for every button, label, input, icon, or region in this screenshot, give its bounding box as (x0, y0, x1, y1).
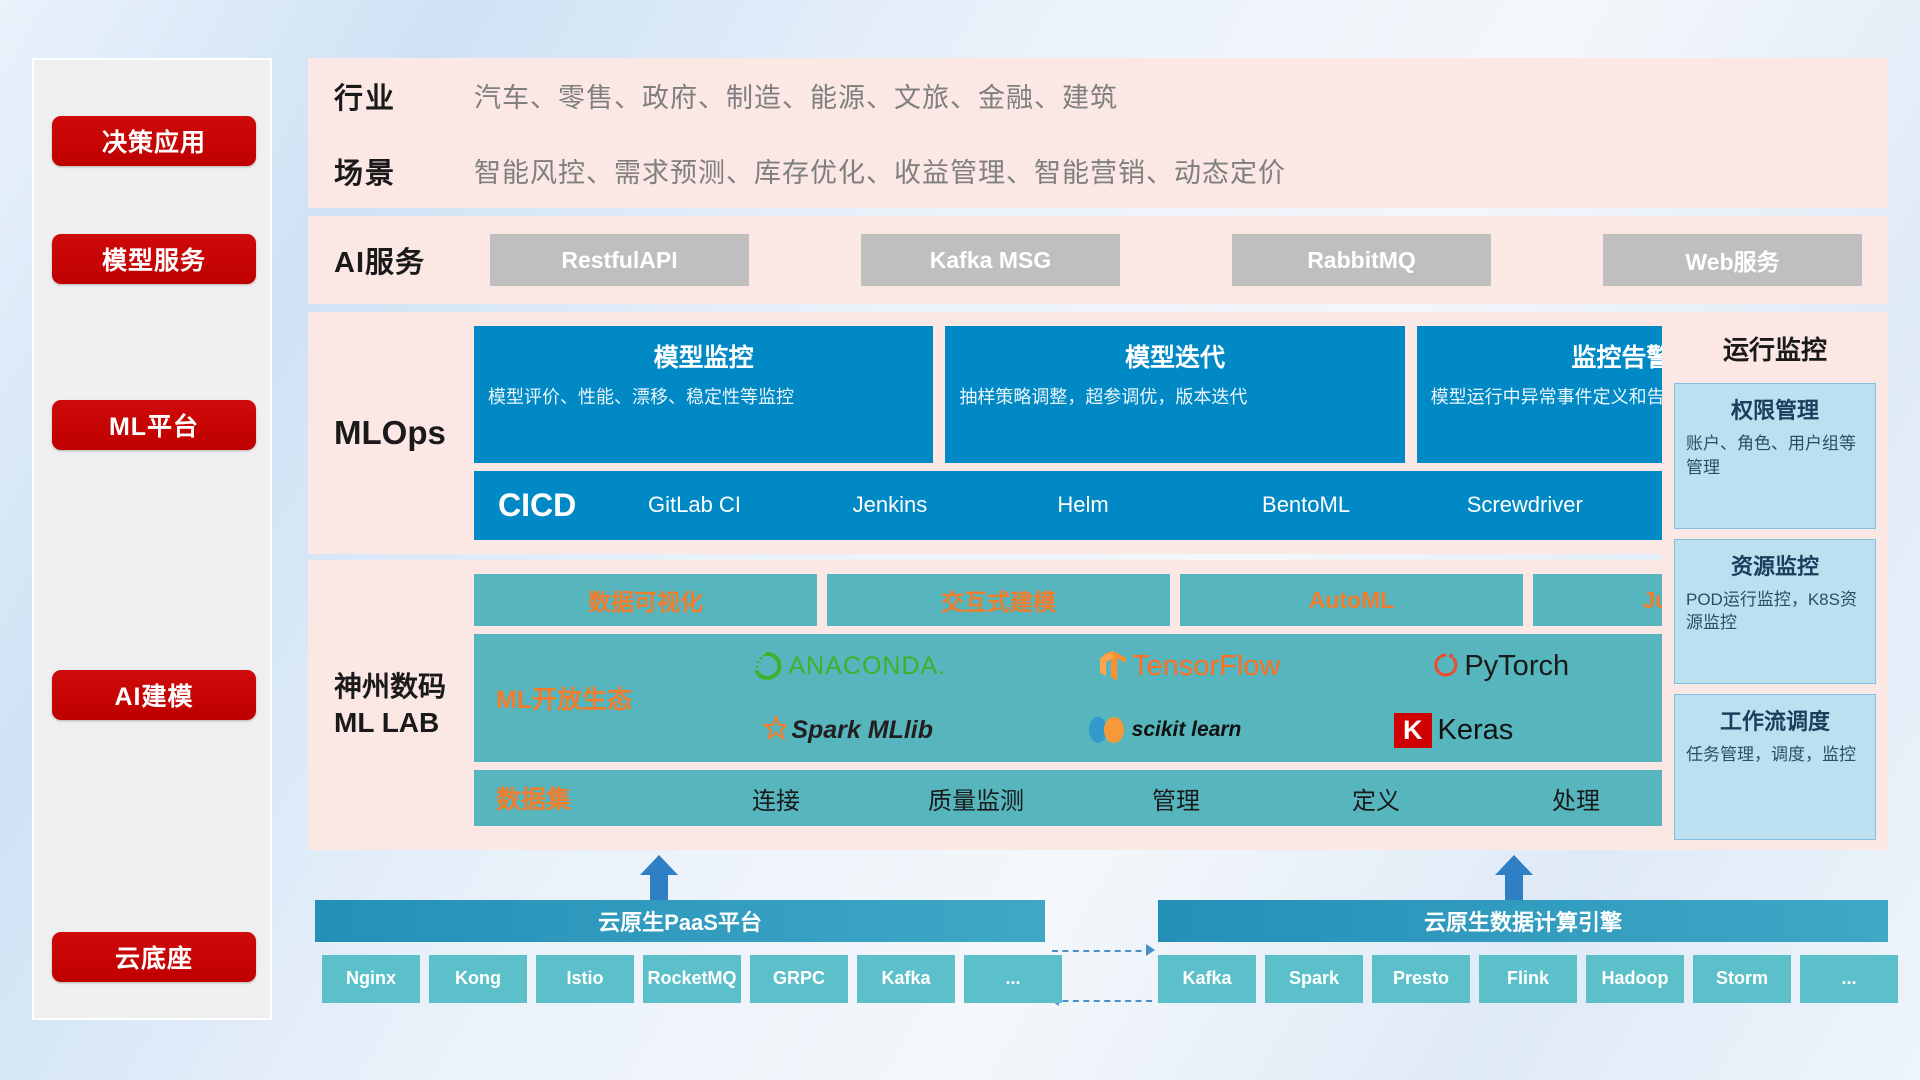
upward-arrow-paas (640, 855, 678, 903)
paas-chip-rocketmq[interactable]: RocketMQ (643, 955, 741, 1003)
engine-chip-hadoop[interactable]: Hadoop (1586, 955, 1684, 1003)
monitor-card-resource[interactable]: 资源监控 POD运行监控，K8S资源监控 (1674, 539, 1876, 685)
card-desc: 模型评价、性能、漂移、稳定性等监控 (488, 384, 919, 410)
mlops-card-model-iteration[interactable]: 模型迭代 抽样策略调整，超参调优，版本迭代 (945, 326, 1404, 463)
paas-chip-more[interactable]: ... (964, 955, 1062, 1003)
cicd-item-screwdriver[interactable]: Screwdriver (1467, 486, 1672, 524)
dataset-item-quality[interactable]: 质量监测 (876, 781, 1076, 816)
card-title: 工作流调度 (1686, 704, 1864, 736)
ml-lab-label: 神州数码 ML LAB (334, 574, 474, 836)
rail-item-decision-app[interactable]: 决策应用 (52, 116, 256, 166)
spark-star-icon (752, 715, 786, 745)
layer-rail: 决策应用 模型服务 ML平台 AI建模 云底座 (32, 58, 272, 1020)
industry-band: 行业 汽车、零售、政府、制造、能源、文旅、金融、建筑 场景 智能风控、需求预测、… (308, 58, 1888, 208)
paas-chip-grpc[interactable]: GRPC (750, 955, 848, 1003)
tensorflow-icon (1099, 650, 1127, 682)
ml-lab-tool-data-visualization[interactable]: 数据可视化 (474, 574, 817, 626)
paas-chip-istio[interactable]: Istio (536, 955, 634, 1003)
engine-chip-flink[interactable]: Flink (1479, 955, 1577, 1003)
paas-chip-nginx[interactable]: Nginx (322, 955, 420, 1003)
cicd-item-jenkins[interactable]: Jenkins (853, 486, 1058, 524)
paas-chip-kafka[interactable]: Kafka (857, 955, 955, 1003)
engine-chip-spark[interactable]: Spark (1265, 955, 1363, 1003)
rail-item-label: 决策应用 (102, 123, 206, 159)
mlops-label: MLOps (334, 326, 474, 540)
card-desc: POD运行监控，K8S资源监控 (1686, 588, 1864, 636)
industry-value: 汽车、零售、政府、制造、能源、文旅、金融、建筑 (474, 76, 1118, 115)
scene-row: 场景 智能风控、需求预测、库存优化、收益管理、智能营销、动态定价 (308, 133, 1888, 208)
cicd-title: CICD (498, 487, 648, 524)
card-desc: 账户、角色、用户组等管理 (1686, 432, 1864, 480)
dataset-item-define[interactable]: 定义 (1276, 781, 1476, 816)
spark-mllib-wordmark: Spark MLlib (791, 716, 933, 745)
ml-lab-band: 神州数码 ML LAB 数据可视化 交互式建模 AutoML JupyterLa… (308, 560, 1888, 850)
cicd-item-gitlab-ci[interactable]: GitLab CI (648, 486, 853, 524)
rail-item-label: 模型服务 (102, 241, 206, 277)
keras-logo: K Keras (1394, 713, 1513, 748)
card-title: 模型监控 (488, 338, 919, 374)
card-title: 资源监控 (1686, 549, 1864, 581)
ml-lab-tool-automl[interactable]: AutoML (1180, 574, 1523, 626)
rail-item-model-service[interactable]: 模型服务 (52, 234, 256, 284)
scikit-learn-logo: scikit learn (1086, 715, 1242, 745)
upward-arrow-data-engine (1495, 855, 1533, 903)
ml-lab-label-line2: ML LAB (334, 705, 474, 741)
keras-icon: K (1394, 713, 1432, 748)
dataset-title: 数据集 (496, 780, 676, 816)
dashed-connector-right (1052, 950, 1152, 952)
spark-mllib-logo: Spark MLlib (752, 715, 933, 745)
monitor-card-permission[interactable]: 权限管理 账户、角色、用户组等管理 (1674, 383, 1876, 529)
keras-wordmark: Keras (1438, 714, 1514, 747)
mlops-band: MLOps 模型监控 模型评价、性能、漂移、稳定性等监控 模型迭代 抽样策略调整… (308, 312, 1888, 554)
ai-service-chip-restfulapi[interactable]: RestfulAPI (490, 234, 749, 286)
dashed-connector-left (1052, 1000, 1152, 1002)
ai-service-label: AI服务 (334, 239, 474, 281)
runtime-monitor-title: 运行监控 (1674, 322, 1876, 373)
card-title: 权限管理 (1686, 393, 1864, 425)
dataset-item-manage[interactable]: 管理 (1076, 781, 1276, 816)
ai-service-band: AI服务 RestfulAPI Kafka MSG RabbitMQ Web服务 (308, 216, 1888, 304)
engine-chip-presto[interactable]: Presto (1372, 955, 1470, 1003)
rail-item-label: ML平台 (109, 407, 199, 443)
scikit-learn-icon (1086, 715, 1130, 745)
cicd-item-bentoml[interactable]: BentoML (1262, 486, 1467, 524)
anaconda-icon (752, 651, 782, 681)
rail-item-cloud-base[interactable]: 云底座 (52, 932, 256, 982)
card-desc: 抽样策略调整，超参调优，版本迭代 (959, 384, 1390, 410)
rail-item-label: AI建模 (114, 677, 193, 713)
mlops-card-model-monitoring[interactable]: 模型监控 模型评价、性能、漂移、稳定性等监控 (474, 326, 933, 463)
card-title: 模型迭代 (959, 338, 1390, 374)
ai-service-chip-list: RestfulAPI Kafka MSG RabbitMQ Web服务 (474, 234, 1862, 286)
engine-chip-more[interactable]: ... (1800, 955, 1898, 1003)
scikit-learn-wordmark: scikit learn (1132, 718, 1242, 742)
tensorflow-wordmark: TensorFlow (1132, 650, 1280, 683)
ml-lab-label-line1: 神州数码 (334, 669, 474, 705)
paas-chip-kong[interactable]: Kong (429, 955, 527, 1003)
pytorch-logo: PyTorch (1433, 650, 1569, 683)
cicd-item-helm[interactable]: Helm (1057, 486, 1262, 524)
rail-item-label: 云底座 (115, 939, 193, 975)
anaconda-logo: ANACONDA. (752, 651, 946, 681)
ml-ecosystem-title: ML开放生态 (496, 680, 676, 716)
rail-item-ml-platform[interactable]: ML平台 (52, 400, 256, 450)
dataset-item-process[interactable]: 处理 (1476, 781, 1676, 816)
dataset-item-connect[interactable]: 连接 (676, 781, 876, 816)
ai-service-chip-kafka-msg[interactable]: Kafka MSG (861, 234, 1120, 286)
paas-chip-list: Nginx Kong Istio RocketMQ GRPC Kafka ... (322, 955, 1062, 1003)
pytorch-icon (1433, 651, 1459, 681)
tensorflow-logo: TensorFlow (1099, 650, 1280, 683)
dashed-arrowhead-right (1146, 944, 1155, 956)
rail-item-ai-modeling[interactable]: AI建模 (52, 670, 256, 720)
anaconda-wordmark: ANACONDA. (788, 652, 946, 681)
monitor-card-workflow[interactable]: 工作流调度 任务管理，调度，监控 (1674, 694, 1876, 840)
industry-row: 行业 汽车、零售、政府、制造、能源、文旅、金融、建筑 (308, 58, 1888, 133)
card-desc: 任务管理，调度，监控 (1686, 743, 1864, 767)
runtime-monitor-column: 运行监控 权限管理 账户、角色、用户组等管理 资源监控 POD运行监控，K8S资… (1662, 312, 1888, 850)
engine-chip-kafka[interactable]: Kafka (1158, 955, 1256, 1003)
cloud-data-engine-bar[interactable]: 云原生数据计算引擎 (1158, 900, 1888, 942)
ai-service-chip-web[interactable]: Web服务 (1603, 234, 1862, 286)
scene-value: 智能风控、需求预测、库存优化、收益管理、智能营销、动态定价 (474, 151, 1286, 190)
ai-service-chip-rabbitmq[interactable]: RabbitMQ (1232, 234, 1491, 286)
data-engine-chip-list: Kafka Spark Presto Flink Hadoop Storm ..… (1158, 955, 1898, 1003)
ml-lab-tool-interactive-modeling[interactable]: 交互式建模 (827, 574, 1170, 626)
pytorch-wordmark: PyTorch (1464, 650, 1569, 683)
scene-label: 场景 (334, 150, 474, 192)
industry-label: 行业 (334, 75, 474, 117)
engine-chip-storm[interactable]: Storm (1693, 955, 1791, 1003)
architecture-diagram: 决策应用 模型服务 ML平台 AI建模 云底座 行业 汽车、零售、政府、制造、能… (0, 0, 1920, 1080)
cloud-paas-bar[interactable]: 云原生PaaS平台 (315, 900, 1045, 942)
